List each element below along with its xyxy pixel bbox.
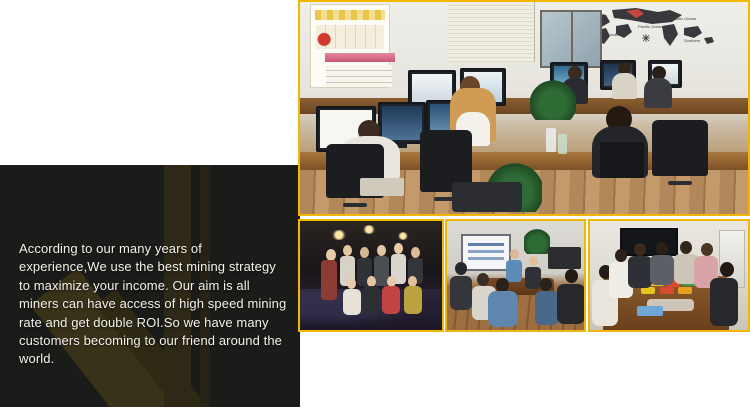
person-head: [367, 276, 376, 287]
person-head: [411, 247, 420, 258]
office-window: [540, 10, 602, 68]
person-head: [496, 278, 509, 292]
window-blind: [448, 2, 535, 62]
paper-stack: [360, 178, 404, 196]
person-body: [404, 286, 422, 314]
person-head: [347, 278, 356, 289]
ceiling-light: [397, 232, 409, 240]
svg-text:Southern: Southern: [684, 38, 700, 43]
poster-text-lines: [326, 65, 392, 87]
person-body: [488, 291, 518, 327]
blue-folder: [637, 306, 662, 316]
person-head: [408, 276, 417, 287]
office-plant: [530, 80, 576, 120]
meeting-plant: [524, 228, 550, 254]
person-body: [644, 78, 672, 108]
person-head: [565, 269, 578, 283]
svg-text:Indian: Indian: [610, 32, 621, 37]
person-body: [321, 260, 337, 300]
office-scene: Pacific Ocean Atlantic Ocean Indian Sout…: [300, 2, 748, 214]
presenter-body: [506, 260, 522, 282]
person-body: [650, 255, 674, 285]
equipment-shelf: [548, 247, 581, 269]
person-body: [450, 276, 472, 310]
person-head: [394, 243, 403, 254]
poster-band: [325, 53, 395, 62]
group-scene: [300, 221, 442, 330]
person-body: [612, 73, 637, 99]
person-body: [362, 286, 380, 314]
person-head: [387, 276, 396, 287]
team-meeting-photo: [445, 219, 586, 332]
snack-pack: [641, 287, 655, 294]
wall-poster: [310, 4, 390, 88]
presentation-screen: [461, 234, 512, 271]
svg-text:Atlantic Ocean: Atlantic Ocean: [670, 16, 696, 21]
person-head: [680, 241, 692, 254]
storage-crate: [600, 142, 644, 178]
meeting-scene: [447, 221, 584, 330]
person-head: [377, 245, 386, 256]
ceiling-light: [331, 230, 347, 240]
person-head: [540, 278, 552, 291]
person-head: [720, 262, 734, 277]
banner-page: According to our many years of experienc…: [0, 0, 750, 411]
person-body: [710, 278, 738, 326]
team-gathering-photo: [588, 219, 750, 332]
svg-text:Pacific Ocean: Pacific Ocean: [638, 24, 663, 29]
team-group-photo: [298, 219, 444, 332]
person-body: [557, 284, 585, 324]
water-bottle: [546, 128, 556, 152]
person-body: [535, 291, 559, 325]
office-chair: [652, 120, 708, 176]
description-text: According to our many years of experienc…: [19, 240, 287, 369]
person-body: [628, 256, 652, 288]
snack-pack: [678, 287, 692, 294]
person-head: [634, 243, 646, 256]
snack-pack: [660, 287, 674, 294]
gathering-scene: [590, 221, 748, 330]
person-body: [343, 289, 361, 315]
person-body: [382, 286, 400, 314]
person-head: [701, 243, 713, 256]
person-head: [343, 245, 352, 256]
description-panel: According to our many years of experienc…: [0, 165, 300, 407]
person-body: [525, 267, 541, 289]
floor-bag: [452, 182, 522, 212]
main-office-photo: Pacific Ocean Atlantic Ocean Indian Sout…: [298, 0, 750, 216]
person-head: [360, 247, 369, 258]
water-bottle: [558, 134, 567, 154]
wall-tv: [620, 228, 678, 256]
